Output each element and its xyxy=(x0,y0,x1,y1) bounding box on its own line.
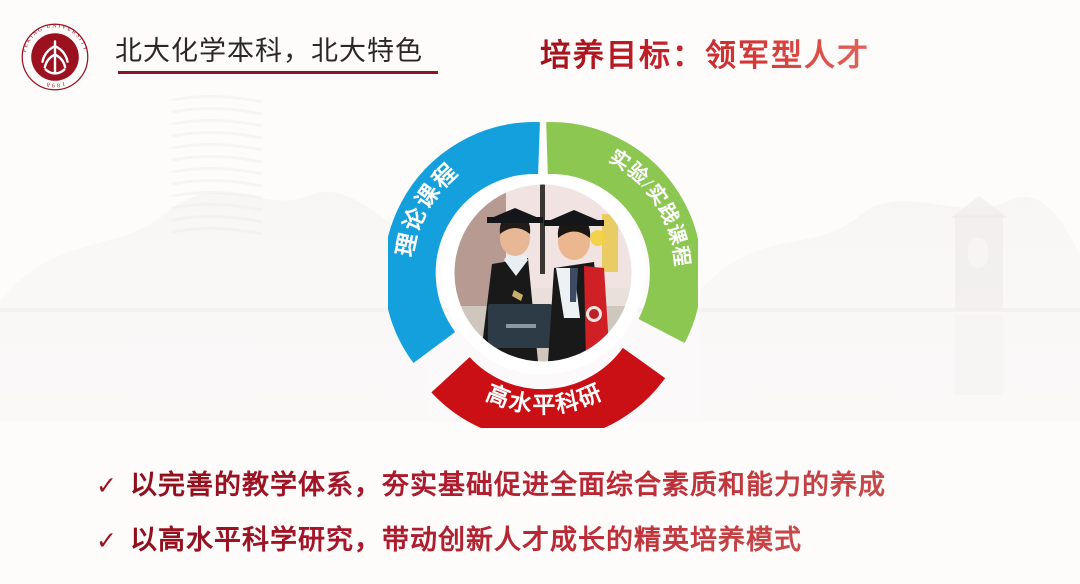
list-item-label: 以高水平科学研究，带动创新人才成长的精英培养模式 xyxy=(130,518,802,557)
list-item-label: 以完善的教学体系，夯实基础促进全面综合素质和能力的养成 xyxy=(130,463,886,502)
page-title: 培养目标：领军型人才 xyxy=(540,30,870,75)
check-icon: ✓ xyxy=(96,528,130,553)
check-icon: ✓ xyxy=(96,473,130,498)
header-subtitle: 北大化学本科，北大特色 xyxy=(115,29,423,68)
key-points-list: ✓ 以完善的教学体系，夯实基础促进全面综合素质和能力的养成 ✓ 以高水平科学研究… xyxy=(96,463,1036,573)
svg-text:1898: 1898 xyxy=(44,80,65,88)
curriculum-donut-chart: 理论课程 实验/实践课程 高水平科研 xyxy=(388,118,698,428)
list-item: ✓ 以高水平科学研究，带动创新人才成长的精英培养模式 xyxy=(96,518,1036,557)
slide-header: PEKING UNIVERSITY 1898 北大化学本科，北大特色 培养目标：… xyxy=(0,0,1080,110)
list-item: ✓ 以完善的教学体系，夯实基础促进全面综合素质和能力的养成 xyxy=(96,463,1036,502)
header-underline xyxy=(118,71,438,74)
slide-canvas: PEKING UNIVERSITY 1898 北大化学本科，北大特色 培养目标：… xyxy=(0,0,1080,584)
graduates-photo xyxy=(454,184,632,362)
seal-year-text: 1898 xyxy=(44,80,65,88)
peking-university-seal-logo: PEKING UNIVERSITY 1898 xyxy=(16,18,94,96)
